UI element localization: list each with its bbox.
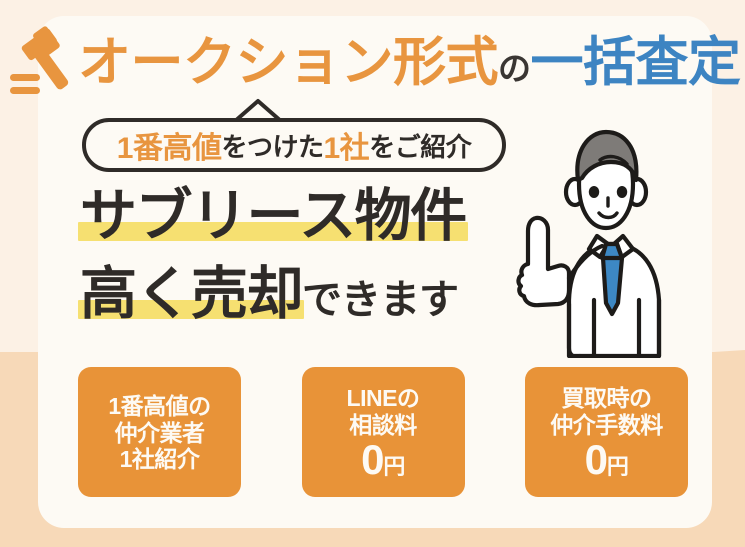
badge-line-consult-free[interactable]: LINEの 相談料 0円 (302, 367, 465, 497)
badge-2-line-2: 相談料 (349, 412, 417, 439)
headline-blue: 一括査定 (531, 33, 741, 92)
badge-3-amount: 0 (585, 436, 607, 483)
badge-purchase-commission-free[interactable]: 買取時の 仲介手数料 0円 (525, 367, 688, 497)
bubble-highlight-1: 1番高値 (117, 123, 222, 167)
headline: オークション形式の一括査定 (78, 31, 718, 95)
badge-top-price-agent[interactable]: 1番高値の 仲介業者 1社紹介 (78, 367, 241, 497)
headline-particle: の (498, 50, 531, 87)
bubble-text-1: をつけた (221, 127, 323, 164)
badge-3-line-1: 買取時の (562, 385, 652, 412)
bubble-highlight-2: 1社 (324, 123, 370, 167)
copy-line-2: 高く売却 できます (80, 266, 458, 323)
badge-3-line-2: 仲介手数料 (550, 412, 663, 439)
promo-banner: オークション形式の一括査定 1番高値をつけた1社をご紹介 サブリース物件 高く売… (0, 0, 745, 547)
badge-2-price: 0円 (361, 439, 405, 481)
badge-1-line-1: 1番高値の (108, 393, 210, 420)
benefit-badges: 1番高値の 仲介業者 1社紹介 LINEの 相談料 0円 買取時の 仲介手数料 … (78, 367, 688, 497)
badge-2-yen: 円 (383, 454, 405, 479)
businessman-pointing-icon (496, 118, 728, 358)
copy-line-2-big: 高く売却 (80, 262, 302, 326)
badge-2-line-1: LINEの (347, 385, 420, 412)
badge-3-price: 0円 (585, 439, 629, 481)
badge-2-amount: 0 (361, 436, 383, 483)
copy-line-1: サブリース物件 (80, 188, 466, 245)
badge-1-line-3: 1社紹介 (120, 446, 200, 473)
badge-1-line-2: 仲介業者 (115, 420, 205, 447)
copy-line-2-small: できます (302, 278, 458, 322)
headline-kana: オークション形式 (78, 33, 498, 92)
speech-bubble: 1番高値をつけた1社をご紹介 (82, 118, 506, 172)
bubble-text-2: をご紹介 (369, 127, 471, 164)
copy-line-1-text: サブリース物件 (80, 184, 466, 248)
badge-3-yen: 円 (607, 454, 629, 479)
